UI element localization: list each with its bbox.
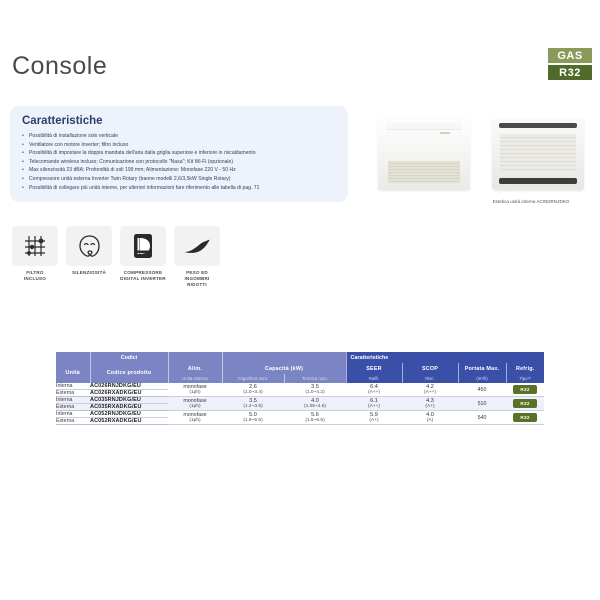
row-seer: 6.1(A++): [346, 397, 402, 411]
icon-cell-inverter: COMPRESSOREDIGITAL INVERTER: [120, 226, 166, 288]
feature-item: Possibilità di collegare più unità inter…: [22, 184, 336, 193]
icon-caption: SILENZIOSITÀ: [72, 270, 106, 276]
row-product-code: AC035RNJDKG/EU: [90, 397, 168, 404]
table-row: Interna AC026RNJDKG/EU monofase(1ph) 2.6…: [56, 383, 544, 390]
row-frigorifera: 5.0(1.9~5.5): [222, 411, 284, 425]
col-refrig-sub: Tipo⁽¹⁾: [506, 374, 544, 383]
row-product-code: AC026RXADKG/EU: [90, 390, 168, 397]
row-frigorifera: 3.5(1.2~3.9): [222, 397, 284, 411]
col-unita: Unità: [56, 363, 90, 383]
col-codice-prodotto: Codice prodotto: [90, 363, 168, 383]
row-termica: 4.0(1.05~4.6): [284, 397, 346, 411]
col-frigorifera: Frigorifera nom.: [222, 374, 284, 383]
table-row: Interna AC035RNJDKG/EU monofase(1ph) 3.5…: [56, 397, 544, 404]
group-header-codici: Codici: [90, 352, 168, 363]
row-seer: 6.4(A++): [346, 383, 402, 397]
row-product-code: AC035RXADKG/EU: [90, 404, 168, 411]
col-termica: Termica nom.: [284, 374, 346, 383]
row-termica: 5.6(1.5~6.5): [284, 411, 346, 425]
page-title: Console: [12, 52, 107, 81]
row-refrig: R32: [506, 411, 544, 425]
row-scop: 4.3(A+): [402, 397, 458, 411]
features-panel: Caratteristiche Possibilità di installaz…: [10, 106, 348, 202]
datasheet-page: Console GAS R32 Caratteristiche Possibil…: [0, 0, 600, 600]
feature-item: Max silenziosità 23 dBA; Profondità di s…: [22, 166, 336, 175]
features-list: Possibilità di installazione solo vertic…: [22, 132, 336, 192]
col-portata: Portata Max.: [458, 363, 506, 374]
icon-caption: COMPRESSOREDIGITAL INVERTER: [120, 270, 166, 282]
table-row: Interna AC052RNJDKG/EU monofase(1ph) 5.0…: [56, 411, 544, 418]
digital-inverter-icon: [120, 226, 166, 266]
row-unit-label: Esterna: [56, 390, 90, 397]
row-alim: monofase(1ph): [168, 397, 222, 411]
col-scop: SCOP: [402, 363, 458, 374]
feature-item: Telecomando wireless incluso; Comunicazi…: [22, 158, 336, 167]
icon-cell-quiet: SILENZIOSITÀ: [66, 226, 112, 288]
row-scop: 4.2(A++): [402, 383, 458, 397]
row-unit-label: Interna: [56, 397, 90, 404]
col-scop-sub: Risc.: [402, 374, 458, 383]
feature-item: Possibilità di impostare la doppia manda…: [22, 149, 336, 158]
row-product-code: AC052RXADKG/EU: [90, 418, 168, 425]
feature-item: Possibilità di installazione solo vertic…: [22, 132, 336, 141]
row-unit-label: Interna: [56, 411, 90, 418]
refrigerant-badge: R32: [513, 399, 536, 408]
icon-cell-compact: PESO EDINGOMBRIRIDOTTI: [174, 226, 220, 288]
col-alim: Alim.: [168, 363, 222, 374]
refrigerant-badge: R32: [513, 413, 536, 422]
row-scop: 4.0(A): [402, 411, 458, 425]
row-refrig: R32: [506, 397, 544, 411]
feature-icons-row: FILTROINCLUSO SILENZIOSITÀ: [12, 226, 220, 288]
col-capacita: Capacità (kW): [222, 363, 346, 374]
icon-caption: FILTROINCLUSO: [24, 270, 46, 282]
icon-caption: PESO EDINGOMBRIRIDOTTI: [184, 270, 209, 288]
row-frigorifera: 2.6(1.0~3.4): [222, 383, 284, 397]
gas-label: GAS: [548, 48, 592, 63]
row-refrig: R32: [506, 383, 544, 397]
col-portata-sub: (m³/h): [458, 374, 506, 383]
col-alim-sub: Unità esterna: [168, 374, 222, 383]
gas-refrigerant-badge: GAS R32: [548, 48, 592, 80]
refrigerant-badge: R32: [513, 385, 536, 394]
row-unit-label: Esterna: [56, 418, 90, 425]
row-portata: 540: [458, 411, 506, 425]
row-seer: 5.9(A+): [346, 411, 402, 425]
product-photo-front: [372, 112, 476, 196]
group-header-caratteristiche: Caratteristiche: [346, 352, 544, 363]
quiet-icon: [66, 226, 112, 266]
row-product-code: AC052RNJDKG/EU: [90, 411, 168, 418]
icon-cell-filter: FILTROINCLUSO: [12, 226, 58, 288]
feature-item: Ventilatore con motore Inverter; filtro …: [22, 141, 336, 150]
compact-weight-icon: [174, 226, 220, 266]
row-portata: 450: [458, 383, 506, 397]
row-alim: monofase(1ph): [168, 383, 222, 397]
filter-icon: [12, 226, 58, 266]
features-heading: Caratteristiche: [22, 115, 336, 127]
refrigerant-label: R32: [548, 65, 592, 80]
col-seer-sub: Raffr.: [346, 374, 402, 383]
col-refrig: Refrig.: [506, 363, 544, 374]
feature-item: Compressore unità esterna Inverter Twin …: [22, 175, 336, 184]
row-alim: monofase(1ph): [168, 411, 222, 425]
row-termica: 3.5(1.0~4.2): [284, 383, 346, 397]
col-seer: SEER: [346, 363, 402, 374]
row-unit-label: Esterna: [56, 404, 90, 411]
product-photo-angle: [486, 112, 590, 196]
specifications-table: Codici Caratteristiche Unità Codice prod…: [56, 352, 544, 425]
product-photo-caption: Estetica unità interna AC052RNJDKG: [466, 199, 596, 204]
row-portata: 510: [458, 397, 506, 411]
product-photos: [372, 112, 590, 196]
